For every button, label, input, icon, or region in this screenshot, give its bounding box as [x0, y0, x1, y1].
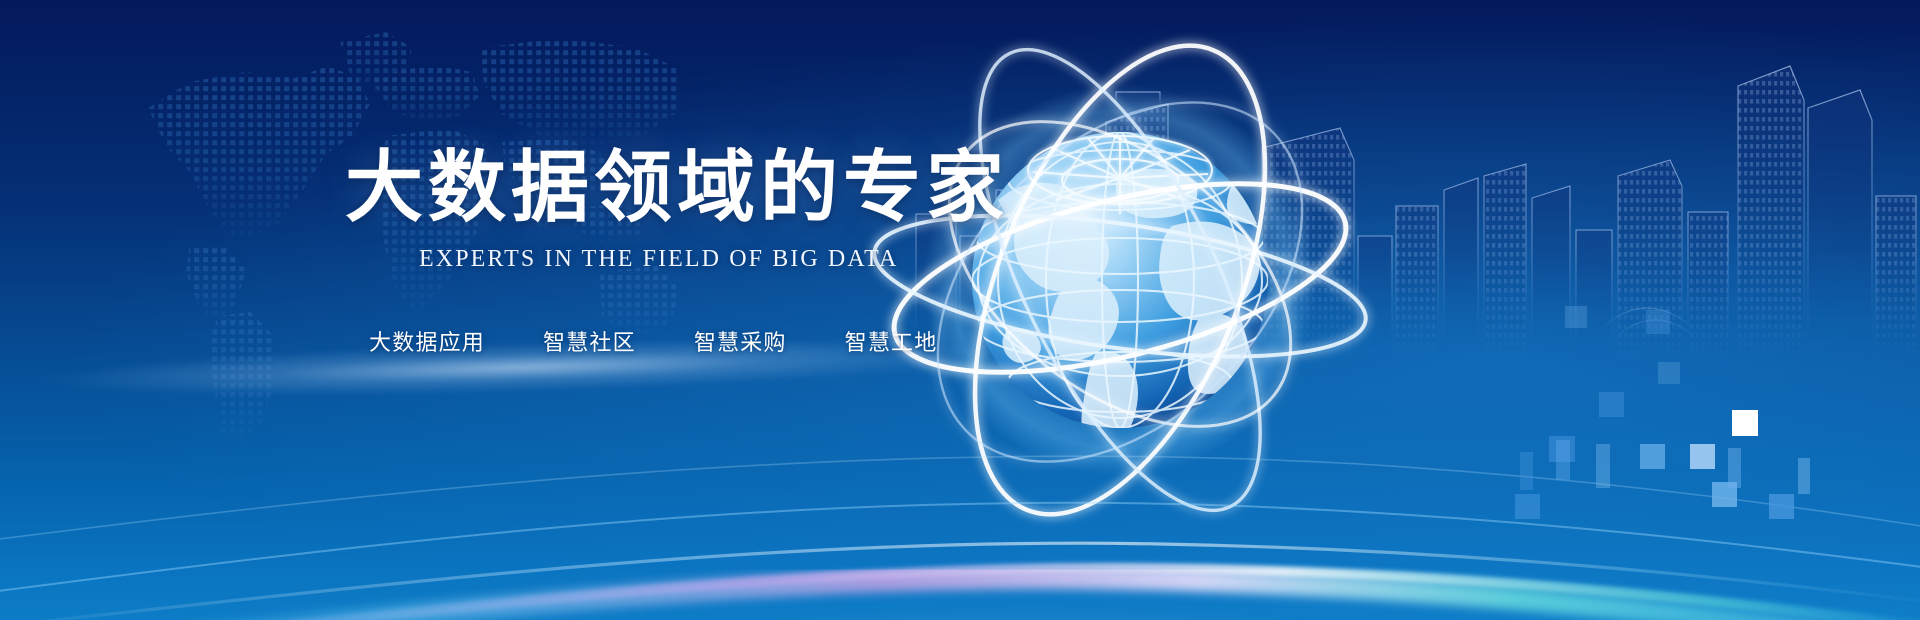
square-7 — [1690, 444, 1715, 469]
bar-5 — [1798, 458, 1810, 494]
square-2 — [1646, 310, 1670, 334]
bar-1 — [1556, 440, 1570, 480]
square-10 — [1769, 494, 1794, 519]
square-9 — [1712, 482, 1737, 507]
square-1 — [1565, 306, 1587, 328]
page-subtitle: EXPERTS IN THE FIELD OF BIG DATA — [419, 246, 1000, 273]
square-3 — [1658, 362, 1680, 384]
page-title: 大数据领域的专家 — [345, 148, 1000, 226]
bar-4 — [1728, 448, 1741, 488]
bar-2 — [1596, 444, 1610, 488]
nav-item-smart-construction-site[interactable]: 智慧工地 — [845, 325, 938, 357]
banner-content: 大数据领域的专家 EXPERTS IN THE FIELD OF BIG DAT… — [0, 0, 1000, 620]
nav-item-big-data-application[interactable]: 大数据应用 — [369, 325, 485, 357]
banner-root: 大数据领域的专家 EXPERTS IN THE FIELD OF BIG DAT… — [0, 0, 1920, 620]
square-11 — [1515, 494, 1540, 519]
square-5 — [1549, 436, 1575, 462]
banner-nav: 大数据应用 智慧社区 智慧采购 智慧工地 — [369, 325, 1000, 357]
nav-item-smart-community[interactable]: 智慧社区 — [543, 325, 636, 357]
square-4 — [1599, 392, 1624, 417]
nav-item-smart-procurement[interactable]: 智慧采购 — [694, 325, 787, 357]
square-8-highlight — [1732, 410, 1758, 436]
bar-3 — [1520, 452, 1533, 490]
square-6 — [1640, 444, 1665, 469]
